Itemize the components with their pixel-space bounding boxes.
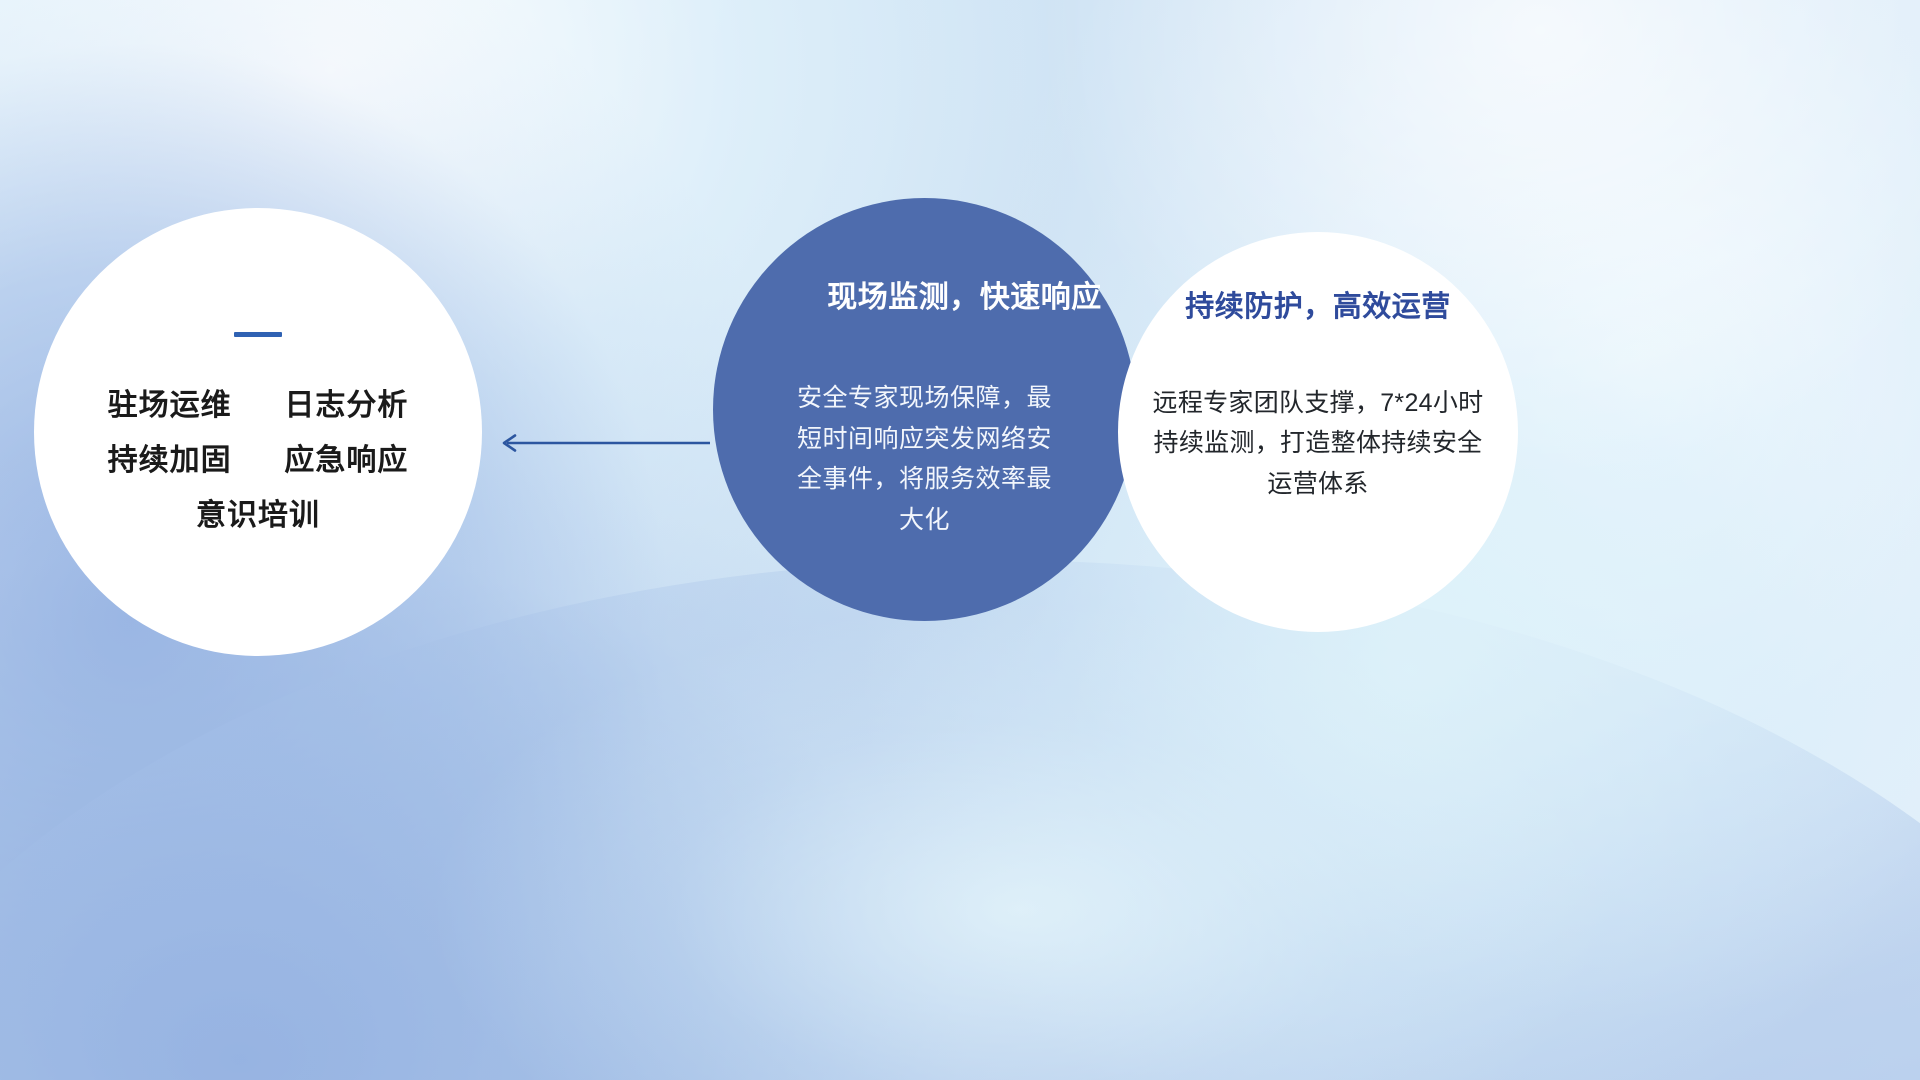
- list-item: 持续加固 应急响应: [108, 444, 409, 477]
- capability-label: 应急响应: [284, 444, 408, 477]
- capability-label: 日志分析: [284, 389, 408, 422]
- slide-canvas: 驻场运维 日志分析 持续加固 应急响应 意识培训 现场监测，快速响应 安全专家现…: [0, 0, 1920, 1080]
- service-capabilities-circle[interactable]: 驻场运维 日志分析 持续加固 应急响应 意识培训: [34, 208, 482, 656]
- arrow-left-icon: [495, 434, 710, 452]
- onsite-monitoring-title: 现场监测，快速响应: [827, 280, 1102, 316]
- capability-label: 意识培训: [196, 499, 320, 532]
- list-item: 驻场运维 日志分析: [108, 389, 409, 422]
- capability-label: 驻场运维: [108, 389, 232, 422]
- list-item: 意识培训: [196, 499, 320, 532]
- onsite-monitoring-body: 安全专家现场保障，最短时间响应突发网络安全事件，将服务效率最大化: [791, 378, 1059, 540]
- continuous-protection-body: 远程专家团队支撑，7*24小时持续监测，打造整体持续安全运营体系: [1143, 383, 1493, 505]
- capability-list: 驻场运维 日志分析 持续加固 应急响应 意识培训: [108, 389, 409, 532]
- continuous-protection-circle[interactable]: 持续防护，高效运营 远程专家团队支撑，7*24小时持续监测，打造整体持续安全运营…: [1118, 232, 1518, 632]
- continuous-protection-title: 持续防护，高效运营: [1185, 290, 1451, 325]
- capability-label: 持续加固: [108, 444, 232, 477]
- onsite-monitoring-circle[interactable]: 现场监测，快速响应 安全专家现场保障，最短时间响应突发网络安全事件，将服务效率最…: [713, 198, 1136, 621]
- divider-dash: [234, 332, 282, 337]
